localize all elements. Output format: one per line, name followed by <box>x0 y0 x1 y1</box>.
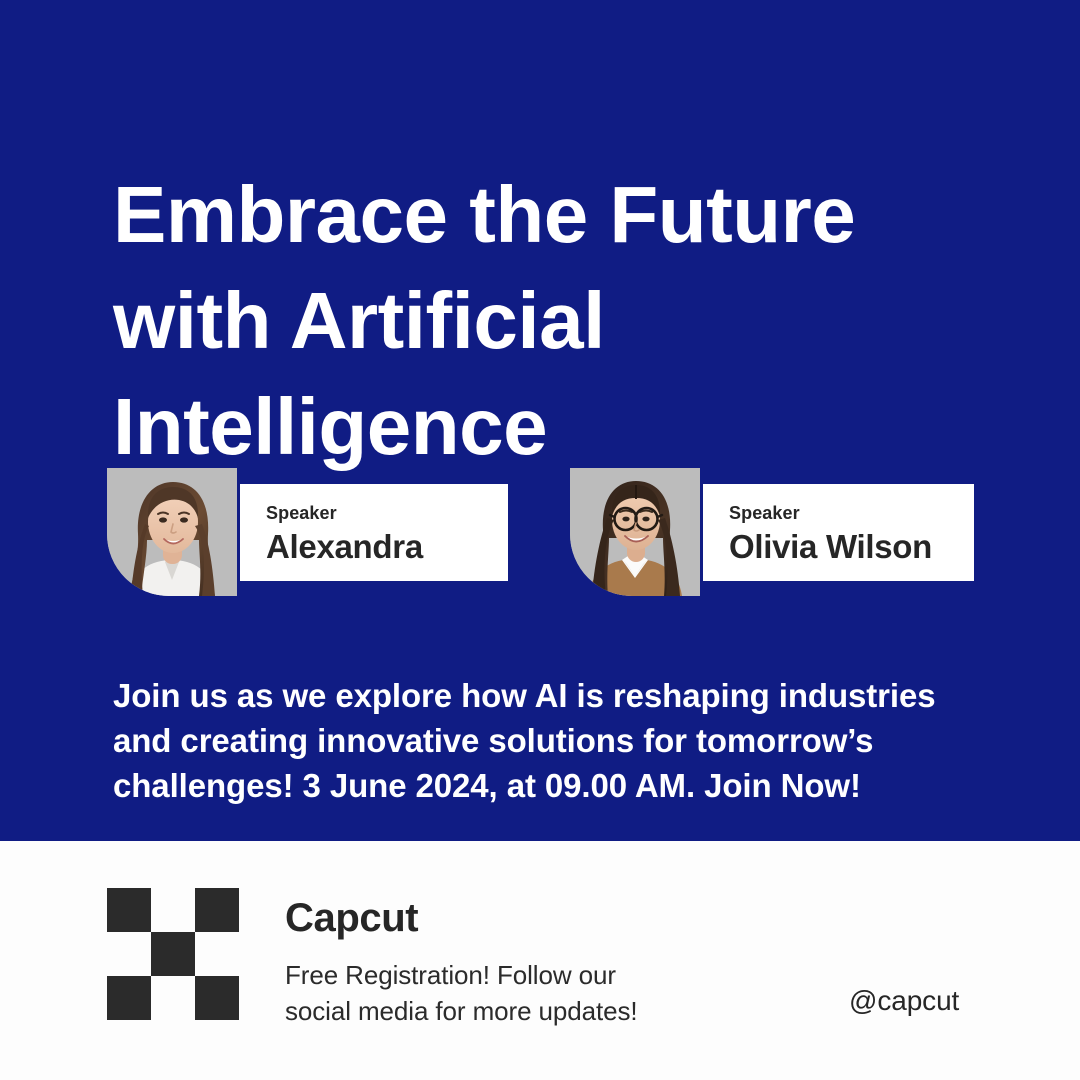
avatar <box>107 468 237 596</box>
speaker-name-label: Olivia Wilson <box>729 526 932 568</box>
speaker-role-label: Speaker <box>266 502 423 524</box>
brand-tagline: Free Registration! Follow our social med… <box>285 957 638 1029</box>
poster-canvas: Embrace the Future with Artificial Intel… <box>0 0 1080 1080</box>
speaker-text-block: Speaker Olivia Wilson <box>729 502 932 568</box>
brand-name: Capcut <box>285 893 638 943</box>
event-description: Join us as we explore how AI is reshapin… <box>113 673 993 808</box>
speaker-card-olivia-wilson[interactable]: Speaker Olivia Wilson <box>570 468 1035 596</box>
brand-block: Capcut Free Registration! Follow our soc… <box>285 893 638 1029</box>
speaker-role-label: Speaker <box>729 502 932 524</box>
social-handle[interactable]: @capcut <box>849 984 959 1018</box>
speaker-name-plate: Speaker Olivia Wilson <box>703 484 974 581</box>
speaker-card-alexandra[interactable]: Speaker Alexandra <box>107 468 572 596</box>
speaker-name-plate: Speaker Alexandra <box>240 484 508 581</box>
speaker-text-block: Speaker Alexandra <box>266 502 423 568</box>
speaker-name-label: Alexandra <box>266 526 423 568</box>
avatar <box>570 468 700 596</box>
checkerboard-logo-icon <box>107 888 239 1020</box>
